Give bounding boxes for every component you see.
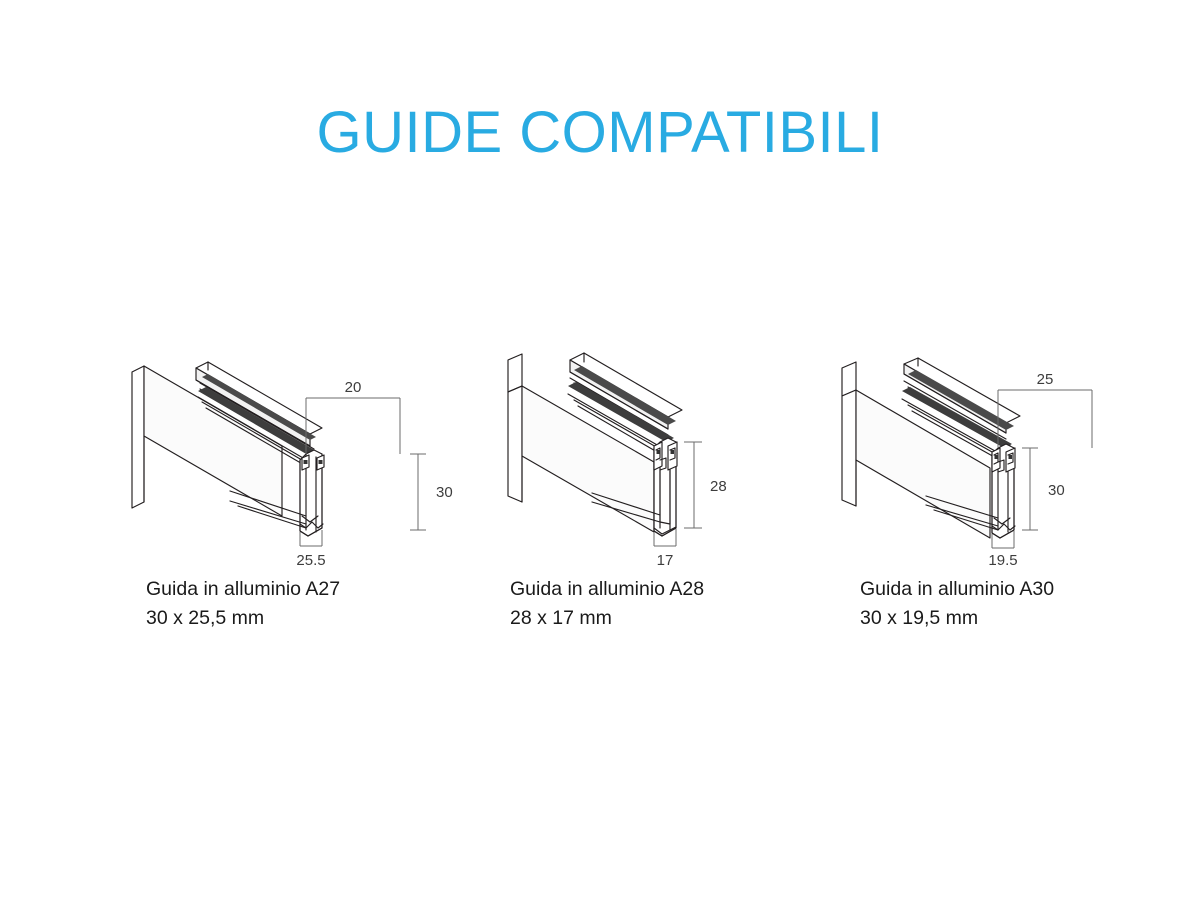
- page-title: GUIDE COMPATIBILI: [0, 103, 1200, 164]
- dimension-top-label: 20: [345, 379, 362, 396]
- slide-canvas: GUIDE COMPATIBILI: [0, 0, 1200, 900]
- profile-card-a28: 28 17 Guida in alluminio A28 28 x 17 mm: [478, 350, 858, 650]
- profile-card-a30: 25 30 19,5 Guida in alluminio A30 30 x 1…: [820, 350, 1200, 650]
- dimension-bottom-label: 19,5: [988, 552, 1017, 565]
- profile-drawing-a28: 28 17: [478, 350, 858, 565]
- profile-size: 30 x 25,5 mm: [146, 604, 486, 633]
- profile-drawing-a27: 20 30 25,5: [110, 350, 490, 565]
- profile-size: 28 x 17 mm: [510, 604, 850, 633]
- profile-caption-a27: Guida in alluminio A27 30 x 25,5 mm: [146, 575, 486, 633]
- dimension-right-label: 30: [1048, 482, 1065, 499]
- profile-drawing-a30: 25 30 19,5: [820, 350, 1200, 565]
- dimension-right-label: 30: [436, 484, 453, 501]
- profile-caption-a30: Guida in alluminio A30 30 x 19,5 mm: [860, 575, 1200, 633]
- dimension-bottom-label: 17: [657, 552, 674, 565]
- dimension-right-label: 28: [710, 478, 727, 495]
- profile-name: Guida in alluminio A27: [146, 575, 486, 604]
- profile-caption-a28: Guida in alluminio A28 28 x 17 mm: [510, 575, 850, 633]
- profile-size: 30 x 19,5 mm: [860, 604, 1200, 633]
- profile-name: Guida in alluminio A28: [510, 575, 850, 604]
- profile-card-a27: 20 30 25,5 Guida in alluminio A27 30 x 2…: [110, 350, 490, 650]
- dimension-bottom-label: 25,5: [296, 552, 325, 565]
- dimension-top-label: 25: [1037, 371, 1054, 388]
- profile-name: Guida in alluminio A30: [860, 575, 1200, 604]
